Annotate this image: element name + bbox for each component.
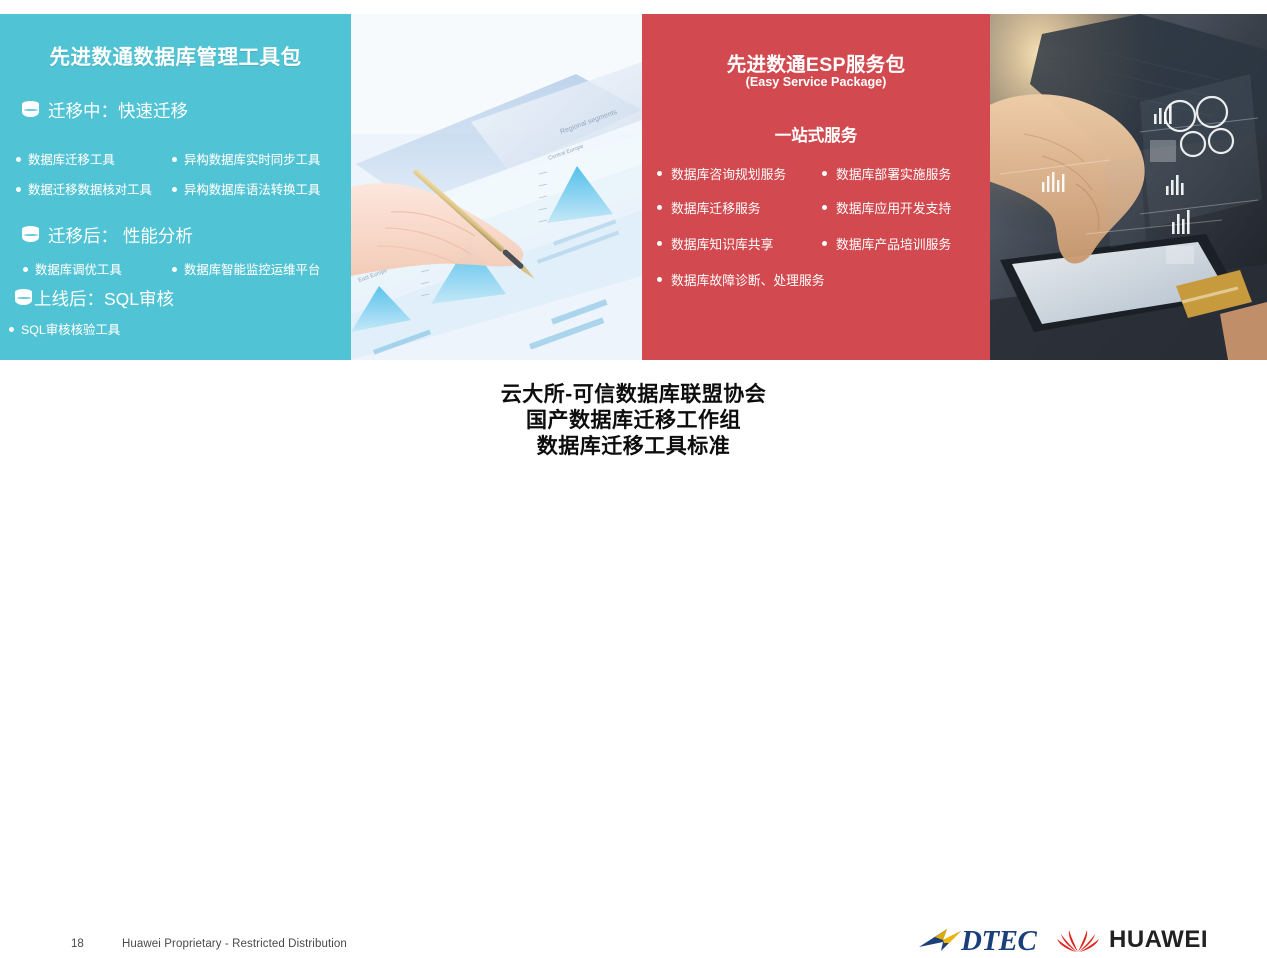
confidentiality-notice: Huawei Proprietary - Restricted Distribu… [122,938,347,950]
list-item: 数据库故障诊断、处理服务 [657,270,825,289]
list-item: 异构数据库语法转换工具 [172,180,320,198]
bullet-dot-icon [822,241,827,246]
bullet-dot-icon [172,157,177,162]
list-item-label: 数据库调优工具 [35,260,122,278]
list-item-label: 异构数据库语法转换工具 [184,180,320,198]
teal-section-heading: 迁移中：快速迁移 [48,98,188,123]
dtec-logo: DTEC [917,924,1036,958]
list-item-label: 数据迁移数据核对工具 [28,180,152,198]
tablet-touch-photo [990,14,1267,360]
database-icon [22,101,39,121]
list-item-label: 数据库智能监控运维平台 [184,260,320,278]
list-item-label: 数据库应用开发支持 [836,198,951,217]
list-item: 数据库迁移服务 [657,198,761,217]
tablet-touch-illustration [990,14,1267,360]
list-item-label: 数据库咨询规划服务 [671,164,786,183]
bullet-dot-icon [172,267,177,272]
bullet-dot-icon [9,327,14,332]
banner-strip: 先进数通数据库管理工具包 迁移中：快速迁移 数据库迁移工具 异构数据库实时同步工… [0,14,1267,360]
list-item-label: 异构数据库实时同步工具 [184,150,320,168]
list-item: 数据库应用开发支持 [822,198,951,217]
teal-section-heading: 迁移后： 性能分析 [48,223,193,248]
business-analytics-photo: Regional segments Central Europe West Eu… [351,14,642,360]
slide-footer: 18 Huawei Proprietary - Restricted Distr… [0,454,1267,510]
caption-line-1: 云大所-可信数据库联盟协会 [0,382,1267,408]
bullet-dot-icon [16,187,21,192]
list-item-label: 数据库部署实施服务 [836,164,951,183]
list-item: 数据库产品培训服务 [822,234,951,253]
caption-block: 云大所-可信数据库联盟协会 国产数据库迁移工作组 数据库迁移工具标准 [0,382,1267,460]
database-icon [15,289,32,309]
bullet-dot-icon [16,157,21,162]
list-item-label: 数据库迁移工具 [28,150,115,168]
caption-line-2: 国产数据库迁移工作组 [0,408,1267,434]
bullet-dot-icon [657,241,662,246]
list-item-label: SQL审核核验工具 [21,320,120,338]
teal-section-heading: 上线后：SQL审核 [34,286,174,311]
teal-section-after-migration: 迁移后： 性能分析 [22,223,193,248]
list-item-label: 数据库知识库共享 [671,234,773,253]
list-item: 数据库智能监控运维平台 [172,260,320,278]
list-item: SQL审核核验工具 [9,320,120,338]
list-item: 数据库知识库共享 [657,234,773,253]
teal-section-after-golive: 上线后：SQL审核 [15,286,174,311]
teal-panel-title: 先进数通数据库管理工具包 [0,40,351,70]
database-icon [22,226,39,246]
dtec-wordmark: DTEC [961,925,1036,958]
huawei-logo: HUAWEI [1056,923,1208,957]
list-item: 数据库部署实施服务 [822,164,951,183]
bullet-dot-icon [822,205,827,210]
business-analytics-illustration: Regional segments Central Europe West Eu… [351,14,642,360]
red-panel-title: 先进数通ESP服务包 [642,48,990,77]
list-item-label: 数据库故障诊断、处理服务 [671,270,825,289]
red-panel-tagline: 一站式服务 [642,122,990,146]
bullet-dot-icon [822,171,827,176]
bullet-dot-icon [172,187,177,192]
list-item: 数据迁移数据核对工具 [16,180,152,198]
huawei-wordmark: HUAWEI [1109,926,1208,954]
list-item-label: 数据库产品培训服务 [836,234,951,253]
list-item: 数据库咨询规划服务 [657,164,786,183]
teal-panel: 先进数通数据库管理工具包 迁移中：快速迁移 数据库迁移工具 异构数据库实时同步工… [0,14,351,360]
red-panel-subtitle: (Easy Service Package) [642,75,990,89]
bullet-dot-icon [657,277,662,282]
teal-section-migrating: 迁移中：快速迁移 [22,98,188,123]
list-item: 异构数据库实时同步工具 [172,150,320,168]
list-item: 数据库调优工具 [23,260,122,278]
page-number: 18 [71,938,84,950]
bullet-dot-icon [23,267,28,272]
list-item: 数据库迁移工具 [16,150,115,168]
bullet-dot-icon [657,205,662,210]
red-panel: 先进数通ESP服务包 (Easy Service Package) 一站式服务 … [642,14,990,360]
bullet-dot-icon [657,171,662,176]
list-item-label: 数据库迁移服务 [671,198,761,217]
huawei-flower-icon [1056,925,1100,955]
